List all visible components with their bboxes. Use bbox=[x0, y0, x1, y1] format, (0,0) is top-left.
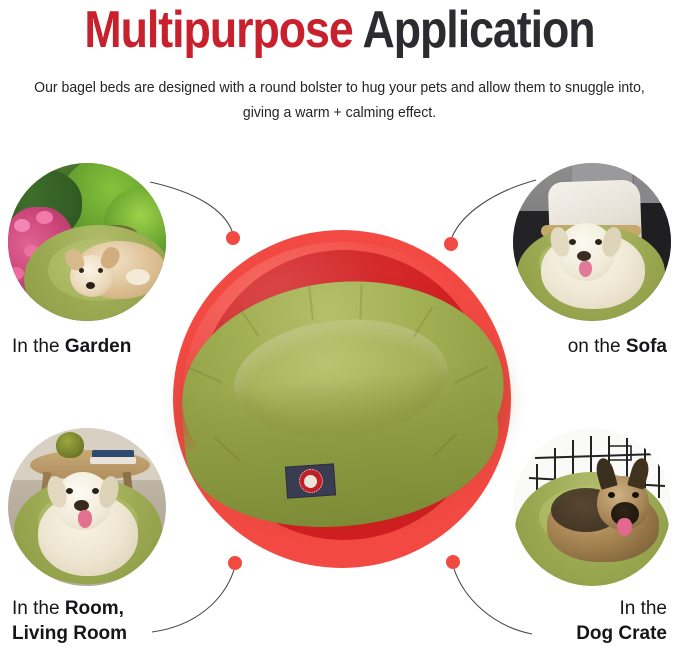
hero-product-image bbox=[182, 282, 504, 522]
garden-flower-petal bbox=[8, 267, 24, 280]
caption-living-room-line-1: In the Room, bbox=[12, 596, 127, 621]
pet-eye-icon bbox=[595, 239, 602, 245]
garden-flower-petal bbox=[14, 219, 30, 232]
hero-product-badge bbox=[173, 230, 511, 568]
pet-paw bbox=[126, 269, 150, 285]
caption-garden-normal: In the bbox=[12, 336, 65, 357]
scene-sofa bbox=[513, 163, 671, 321]
caption-living-room-line-2: Living Room bbox=[12, 621, 127, 646]
garden-flower-petal bbox=[36, 211, 53, 224]
books-stack bbox=[90, 457, 136, 464]
caption-living-room-bold-1: Room, bbox=[65, 598, 124, 619]
caption-dog-crate-bold: Dog Crate bbox=[576, 623, 667, 644]
caption-sofa: on the Sofa bbox=[568, 334, 667, 359]
pet-nose-icon bbox=[86, 282, 95, 289]
page-title-rest: Application bbox=[353, 1, 595, 59]
pet-tongue-icon bbox=[579, 261, 592, 277]
pet-tongue-icon bbox=[617, 518, 632, 536]
caption-dog-crate: In the Dog Crate bbox=[576, 596, 667, 646]
callout-thumbnail-living-room[interactable] bbox=[8, 428, 166, 586]
caption-dog-crate-line-1: In the bbox=[576, 596, 667, 621]
pet-eye-icon bbox=[569, 239, 576, 245]
callout-thumbnail-dog-crate[interactable] bbox=[513, 428, 671, 586]
page-title: Multipurpose Application bbox=[48, 2, 632, 58]
caption-sofa-bold: Sofa bbox=[626, 336, 667, 357]
pet-eye-icon bbox=[79, 268, 84, 273]
pet-nose-icon bbox=[577, 251, 591, 261]
page-title-highlight: Multipurpose bbox=[84, 1, 352, 59]
scene-living-room bbox=[8, 428, 166, 586]
decor-object bbox=[56, 432, 84, 458]
caption-living-room-normal: In the bbox=[12, 598, 65, 619]
caption-living-room: In the Room, Living Room bbox=[12, 596, 127, 646]
brand-logo-center bbox=[304, 474, 318, 488]
callout-thumbnail-garden[interactable] bbox=[8, 163, 166, 321]
brand-logo-icon bbox=[298, 468, 324, 494]
scene-dog-crate bbox=[513, 428, 671, 586]
pet-eye-icon bbox=[66, 488, 73, 494]
caption-dog-crate-line-2: Dog Crate bbox=[576, 621, 667, 646]
caption-dog-crate-normal: In the bbox=[619, 598, 667, 619]
caption-living-room-bold-2: Living Room bbox=[12, 623, 127, 644]
caption-garden-bold: Garden bbox=[65, 336, 132, 357]
scene-garden bbox=[8, 163, 166, 321]
brand-tag bbox=[285, 463, 336, 498]
pet-eye-icon bbox=[98, 268, 103, 273]
caption-garden: In the Garden bbox=[12, 334, 131, 359]
pet-eye-icon bbox=[92, 488, 99, 494]
infographic-canvas: Multipurpose Application Our bagel beds … bbox=[0, 0, 679, 666]
pet-eye-icon bbox=[632, 492, 639, 498]
caption-sofa-normal: on the bbox=[568, 336, 626, 357]
pet-tongue-icon bbox=[78, 510, 92, 528]
page-subtitle: Our bagel beds are designed with a round… bbox=[33, 76, 645, 126]
pet-eye-icon bbox=[608, 492, 615, 498]
callout-thumbnail-sofa[interactable] bbox=[513, 163, 671, 321]
